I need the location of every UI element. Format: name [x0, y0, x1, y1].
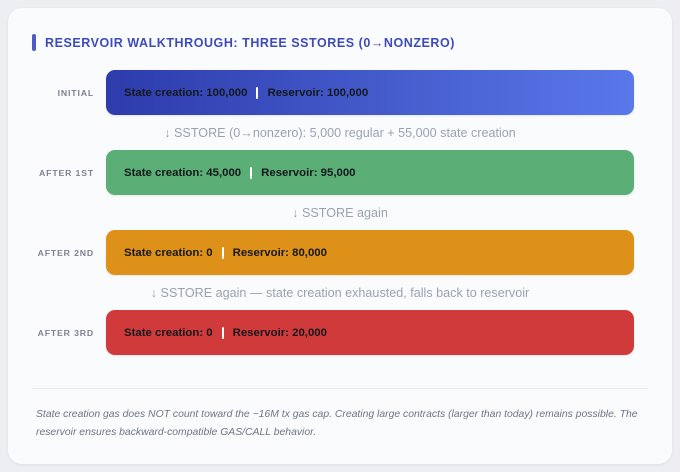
walkthrough-steps: INITIAL State creation: 100,000 Reservoi… — [8, 70, 672, 355]
card-header: RESERVOIR WALKTHROUGH: THREE SSTORES (0→… — [32, 34, 455, 51]
reservoir-value-initial: Reservoir: 100,000 — [267, 87, 368, 99]
step-bar-after-2nd: State creation: 0 Reservoir: 80,000 — [106, 230, 634, 275]
value-separator-icon — [222, 247, 224, 259]
state-creation-value-after-1st: State creation: 45,000 — [124, 167, 241, 179]
annotation-3: ↓ SSTORE again — state creation exhauste… — [8, 275, 672, 310]
step-label-initial: INITIAL — [8, 88, 106, 98]
step-bar-initial: State creation: 100,000 Reservoir: 100,0… — [106, 70, 634, 115]
value-separator-icon — [222, 327, 224, 339]
reservoir-value-after-3rd: Reservoir: 20,000 — [233, 327, 327, 339]
step-row-initial: INITIAL State creation: 100,000 Reservoi… — [8, 70, 672, 115]
footnote-text: State creation gas does NOT count toward… — [36, 406, 644, 442]
reservoir-value-after-1st: Reservoir: 95,000 — [261, 167, 355, 179]
step-row-after-2nd: AFTER 2ND State creation: 0 Reservoir: 8… — [8, 230, 672, 275]
step-label-after-1st: AFTER 1ST — [8, 168, 106, 178]
step-label-after-3rd: AFTER 3RD — [8, 328, 106, 338]
state-creation-value-after-3rd: State creation: 0 — [124, 327, 213, 339]
annotation-2: ↓ SSTORE again — [8, 195, 672, 230]
state-creation-value-initial: State creation: 100,000 — [124, 87, 247, 99]
value-separator-icon — [250, 167, 252, 179]
state-creation-value-after-2nd: State creation: 0 — [124, 247, 213, 259]
reservoir-value-after-2nd: Reservoir: 80,000 — [233, 247, 327, 259]
step-label-after-2nd: AFTER 2ND — [8, 248, 106, 258]
value-separator-icon — [256, 87, 258, 99]
page-title: RESERVOIR WALKTHROUGH: THREE SSTORES (0→… — [45, 36, 455, 50]
reservoir-walkthrough-card: RESERVOIR WALKTHROUGH: THREE SSTORES (0→… — [8, 8, 672, 464]
accent-bar-icon — [32, 34, 36, 51]
step-bar-after-1st: State creation: 45,000 Reservoir: 95,000 — [106, 150, 634, 195]
footer-divider — [32, 388, 648, 389]
step-bar-after-3rd: State creation: 0 Reservoir: 20,000 — [106, 310, 634, 355]
annotation-1: ↓ SSTORE (0→nonzero): 5,000 regular + 55… — [8, 115, 672, 150]
step-row-after-1st: AFTER 1ST State creation: 45,000 Reservo… — [8, 150, 672, 195]
step-row-after-3rd: AFTER 3RD State creation: 0 Reservoir: 2… — [8, 310, 672, 355]
